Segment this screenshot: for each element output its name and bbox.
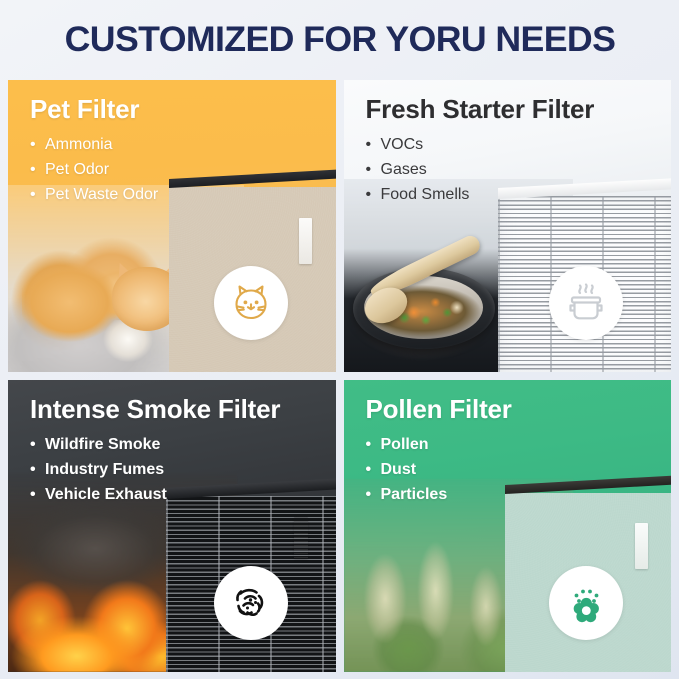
- flower-center: [582, 606, 591, 615]
- header: CUSTOMIZED FOR YORU NEEDS: [0, 0, 679, 80]
- panel-heading: Pet Filter: [30, 94, 139, 125]
- steaming-pot-icon-badge: [549, 266, 623, 340]
- filter-pull-tab: [635, 523, 648, 569]
- bullet-item: Dust: [366, 457, 448, 482]
- bullet-item: Industry Fumes: [30, 457, 167, 482]
- panel-heading: Intense Smoke Filter: [30, 394, 280, 425]
- bullet-item: Vehicle Exhaust: [30, 482, 167, 507]
- bullet-item: Particles: [366, 482, 448, 507]
- panel-bullet-list: VOCs Gases Food Smells: [366, 132, 470, 207]
- filter-label-tag: [294, 517, 308, 559]
- bullet-item: Pet Odor: [30, 157, 158, 182]
- page-title: CUSTOMIZED FOR YORU NEEDS: [64, 20, 615, 60]
- bullet-item: Pet Waste Odor: [30, 182, 158, 207]
- smoke-swirl-icon-badge: [214, 566, 288, 640]
- panel-pet-filter[interactable]: Pet Filter Ammonia Pet Odor Pet Waste Od…: [8, 80, 336, 372]
- panel-pollen-filter[interactable]: Pollen Filter Pollen Dust Particles: [344, 380, 672, 672]
- bullet-item: Gases: [366, 157, 470, 182]
- cat-face-icon-badge: [214, 266, 288, 340]
- bullet-item: Food Smells: [366, 182, 470, 207]
- panel-heading: Pollen Filter: [366, 394, 512, 425]
- cat-face-icon: [228, 280, 274, 326]
- bullet-item: Pollen: [366, 432, 448, 457]
- filter-pull-tab: [299, 218, 312, 264]
- flower-pollen-icon: [563, 580, 609, 626]
- panel-heading: Fresh Starter Filter: [366, 94, 595, 125]
- bullet-item: Ammonia: [30, 132, 158, 157]
- steaming-pot-icon: [563, 280, 609, 326]
- panel-bullet-list: Pollen Dust Particles: [366, 432, 448, 507]
- panel-fresh-starter-filter[interactable]: Fresh Starter Filter VOCs Gases Food Sme…: [344, 80, 672, 372]
- smoke-particle: [246, 607, 249, 610]
- cat-eye-left: [243, 301, 247, 305]
- bullet-item: Wildfire Smoke: [30, 432, 167, 457]
- panel-bullet-list: Ammonia Pet Odor Pet Waste Odor: [30, 132, 158, 207]
- panel-bullet-list: Wildfire Smoke Industry Fumes Vehicle Ex…: [30, 432, 167, 507]
- filter-grid: Pet Filter Ammonia Pet Odor Pet Waste Od…: [8, 80, 671, 672]
- panel-intense-smoke-filter[interactable]: Intense Smoke Filter Wildfire Smoke Indu…: [8, 380, 336, 672]
- flower-pollen-icon-badge: [549, 566, 623, 640]
- smoke-swirl-icon: [228, 580, 274, 626]
- smoke-particle: [248, 598, 251, 601]
- cat-eye-right: [254, 301, 258, 305]
- smoke-particle: [254, 601, 257, 604]
- bullet-item: VOCs: [366, 132, 470, 157]
